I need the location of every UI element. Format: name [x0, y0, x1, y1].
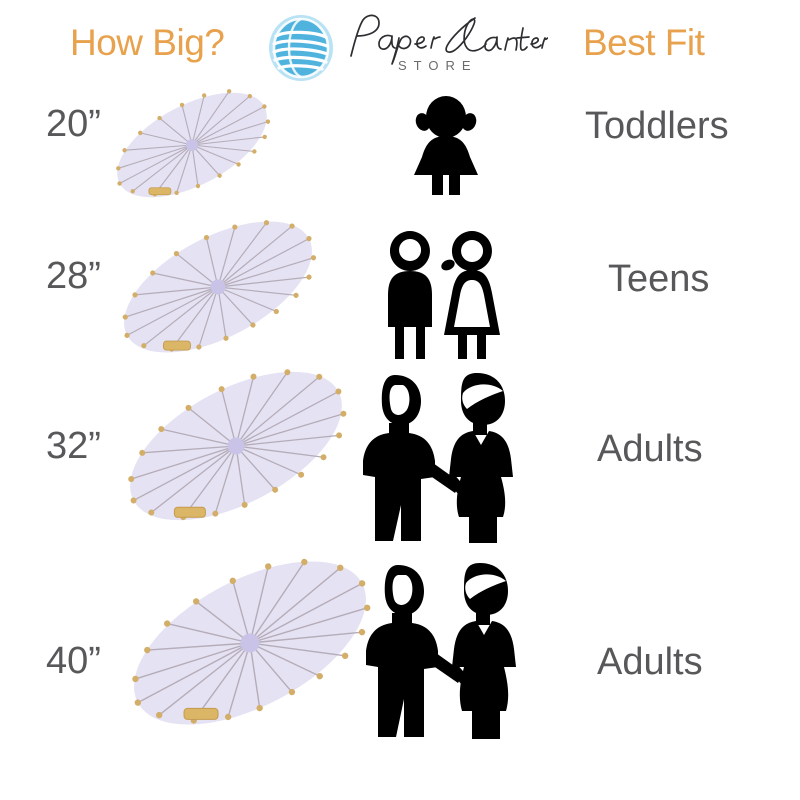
size-row: 32” — [0, 360, 800, 555]
paper-parasol-icon — [103, 215, 329, 370]
paper-parasol-icon — [100, 85, 280, 215]
paper-lantern-icon — [265, 12, 337, 84]
toddler-girl-icon — [398, 95, 494, 195]
infographic-header: How Big? — [0, 0, 800, 95]
size-guide-infographic: How Big? — [0, 0, 800, 800]
fit-label: Adults — [597, 428, 703, 471]
fit-label: Teens — [608, 258, 709, 301]
size-row: 20” — [0, 85, 800, 215]
paper-parasol-icon — [108, 360, 360, 542]
adult-couple-icon — [352, 555, 524, 745]
size-label: 20” — [46, 103, 101, 146]
size-label: 32” — [46, 425, 101, 468]
teen-boy-girl-icon — [372, 223, 512, 363]
brand-wordmark: STORE — [343, 10, 548, 86]
paper-parasol-icon — [112, 545, 384, 755]
brand-logo: STORE — [265, 8, 550, 88]
column-title-best-fit: Best Fit — [583, 22, 704, 64]
brand-sub-name: STORE — [398, 58, 478, 73]
size-row: 28” — [0, 205, 800, 365]
fit-label: Toddlers — [585, 105, 729, 148]
size-row: 40” — [0, 545, 800, 780]
size-label: 28” — [46, 255, 101, 298]
fit-label: Adults — [597, 641, 703, 684]
size-label: 40” — [46, 640, 101, 683]
adult-couple-icon — [349, 365, 521, 547]
column-title-how-big: How Big? — [70, 22, 224, 64]
